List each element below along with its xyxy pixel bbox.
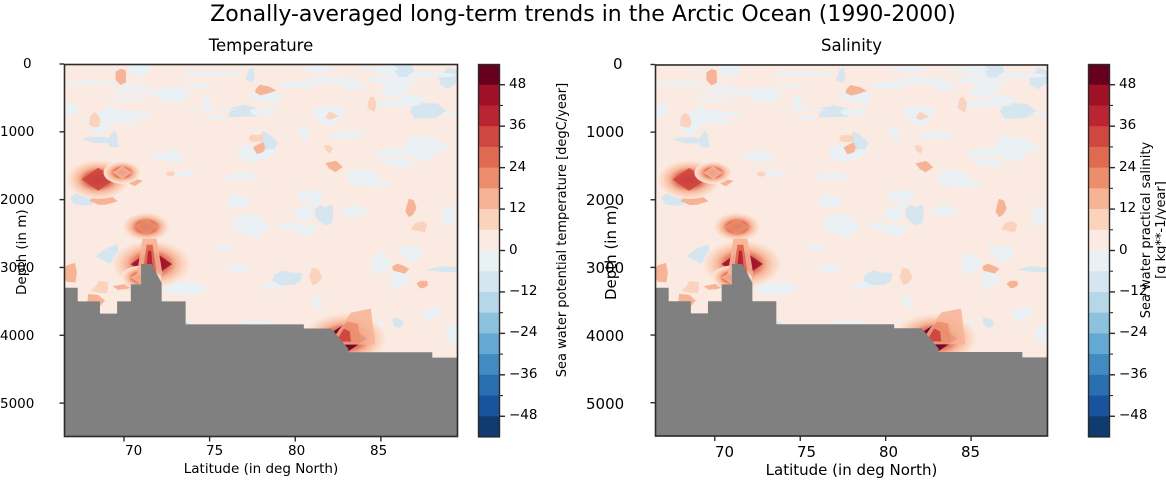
xtick-label: 70 [125,443,142,459]
ytick-label: 1000 [0,124,34,140]
xtick-label: 75 [797,443,816,461]
colorbar-tick-label: 24 [1119,159,1136,175]
plot-area-salinity [655,64,1048,437]
xaxis-label-salinity: Latitude (in deg North) [655,461,1048,479]
colorbar-tick-label: 12 [509,200,526,216]
colorbar-tick-label: −48 [1119,407,1148,423]
ytick-label: 2000 [0,192,34,208]
colorbar-tick-label: 24 [509,159,526,175]
xtick-label: 80 [288,443,305,459]
colorbar-tick-label: 0 [1119,242,1128,258]
colorbar-tick-label: 48 [1119,76,1136,92]
ytick-label: 4000 [0,328,34,344]
yaxis-label-temperature: Depth (in m) [14,209,30,295]
colorbar-tick-label: −12 [509,283,538,299]
panel-title-temperature: Temperature [64,36,458,55]
ytick-label: 5000 [0,396,34,412]
colorbar-tick-label: −24 [509,324,538,340]
xtick-label: 75 [206,443,223,459]
colorbar-tick-label: 0 [509,242,518,258]
xtick-label: 80 [879,443,898,461]
colorbar-temperature [478,64,500,437]
panel-title-salinity: Salinity [655,36,1048,55]
figure-canvas: Zonally-averaged long-term trends in the… [0,0,1166,482]
xtick-label: 85 [961,443,980,461]
ytick-label: 0 [613,55,623,73]
colorbar-label-line2: [g kg**-1/year] [1154,181,1166,279]
colorbar-tick-label: 36 [509,117,526,133]
xaxis-label-temperature: Latitude (in deg North) [64,461,458,477]
colorbar-tick-label: 48 [509,76,526,92]
xtick-label: 85 [370,443,387,459]
colorbar-label-temperature: Sea water potential temperature [degC/ye… [556,80,571,380]
colorbar-label-salinity: Sea water practical salinity[g kg**-1/ye… [1140,70,1166,390]
figure-suptitle: Zonally-averaged long-term trends in the… [0,2,1166,27]
ytick-label: 0 [23,56,32,72]
colorbar-tick-label: −48 [509,407,538,423]
ytick-label: 4000 [586,327,624,345]
colorbar-tick-label: 12 [1119,200,1136,216]
plot-area-temperature [64,64,458,437]
colorbar-tick-label: 36 [1119,117,1136,133]
colorbar-label-line1: Sea water practical salinity [1139,142,1154,318]
colorbar-tick-label: −36 [509,366,538,382]
ytick-label: 1000 [586,123,624,141]
ytick-label: 5000 [586,395,624,413]
xtick-label: 70 [715,443,734,461]
yaxis-label-salinity: Depth (in m) [602,205,620,300]
colorbar-salinity [1088,64,1110,437]
